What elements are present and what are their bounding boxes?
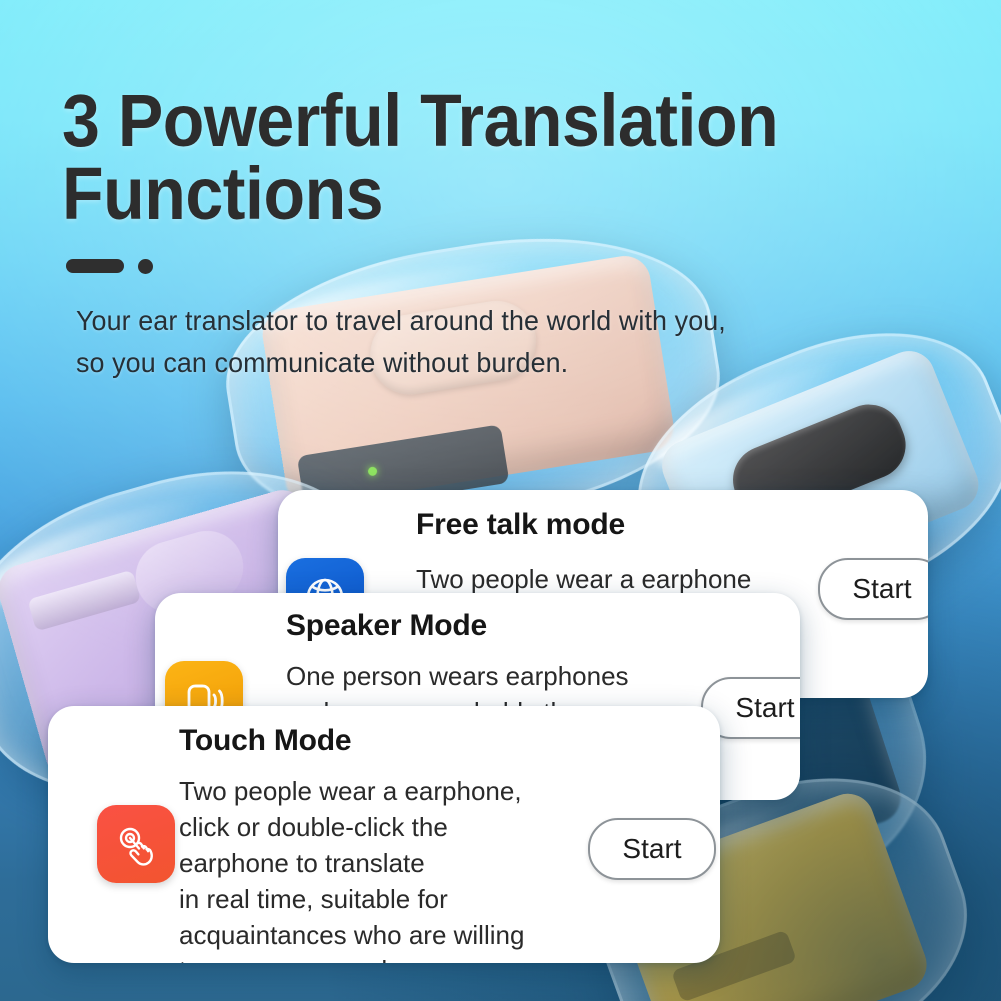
card-description: Two people wear a earphone, click or dou…: [179, 774, 619, 963]
page-subtitle: Your ear translator to travel around the…: [76, 300, 964, 385]
card-title: Speaker Mode: [286, 609, 487, 643]
dash-dot-divider-icon: [66, 259, 1001, 274]
product-promo-banner: 3 Powerful Translation Functions Your ea…: [0, 0, 1001, 1001]
mode-card-touch[interactable]: Touch Mode Two people wear a earphone, c…: [48, 706, 720, 963]
page-title: 3 Powerful Translation Functions: [62, 84, 926, 231]
divider-bar: [66, 259, 124, 273]
header: 3 Powerful Translation Functions Your ea…: [0, 0, 1001, 385]
touch-tap-icon: [97, 805, 175, 883]
divider-dot: [138, 259, 153, 274]
title-block: 3 Powerful Translation Functions: [0, 0, 1001, 231]
card-title: Touch Mode: [179, 724, 351, 758]
card-title: Free talk mode: [416, 508, 625, 542]
start-button-touch[interactable]: Start: [588, 818, 716, 880]
start-button-free-talk[interactable]: Start: [818, 558, 928, 620]
